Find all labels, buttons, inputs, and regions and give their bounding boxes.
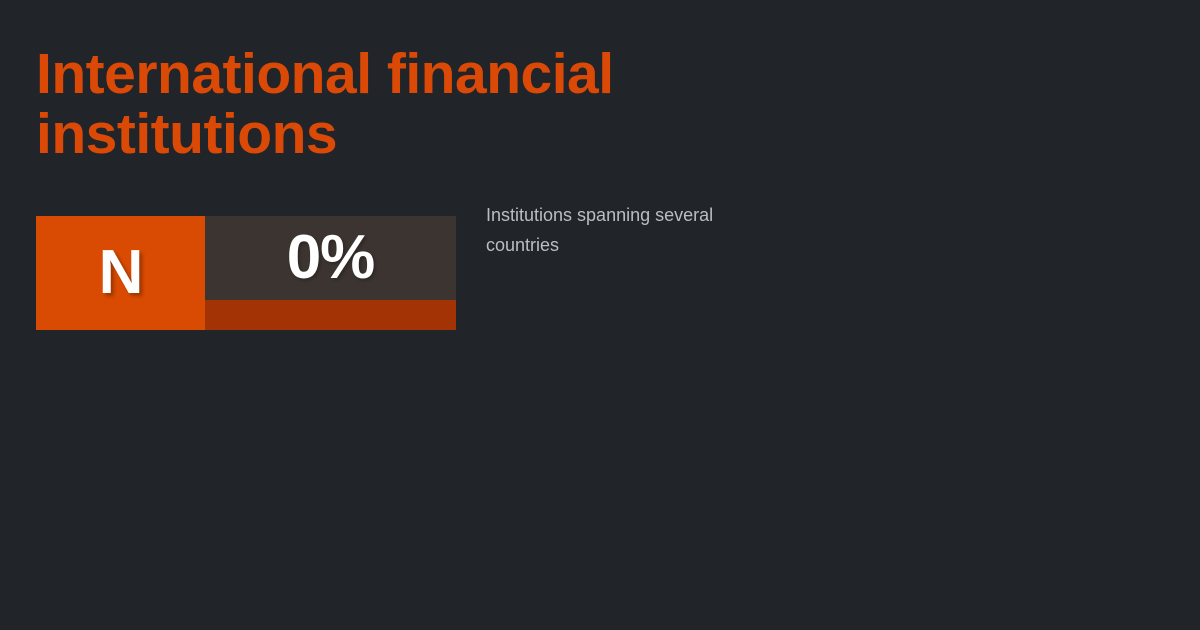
stat-value: 0% <box>287 227 375 289</box>
badge-initial-letter: N <box>99 242 143 304</box>
slide-canvas: International financial institutions N 0… <box>0 0 1200 630</box>
badge-body: 0% <box>205 216 456 330</box>
stat-meter-track <box>205 300 456 330</box>
stat-value-panel: 0% <box>205 216 456 300</box>
badge-initial-tile: N <box>36 216 205 330</box>
stat-description: Institutions spanning several countries <box>486 200 786 260</box>
stat-badge: N 0% <box>36 216 456 330</box>
page-title: International financial institutions <box>36 44 936 164</box>
